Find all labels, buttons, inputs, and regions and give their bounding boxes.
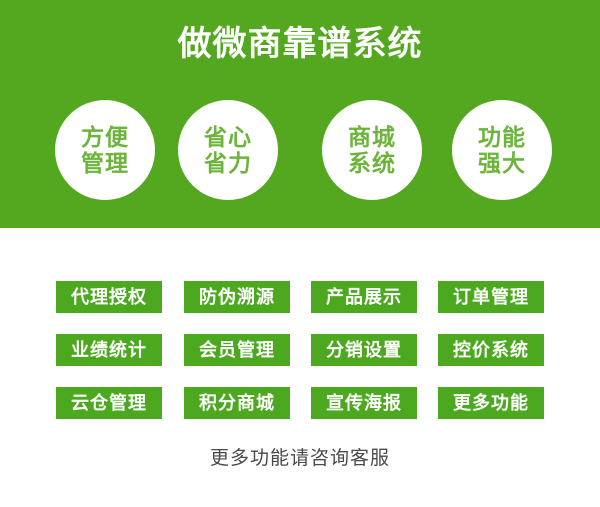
feature-tag[interactable]: 产品展示 [311,281,417,313]
highlight-circle-1-line2: 管理 [81,150,129,176]
feature-tag[interactable]: 会员管理 [184,334,290,366]
feature-tag-grid: 代理授权 防伪溯源 产品展示 订单管理 业绩统计 会员管理 分销设置 控价系统 … [0,228,600,507]
highlight-circle-1-line1: 方便 [81,124,129,150]
hero-section: 做微商靠谱系统 方便 管理 省心 省力 商城 系统 功能 强大 [0,0,600,228]
highlight-circle-3-line2: 系统 [348,150,396,176]
highlight-circle-3-line1: 商城 [348,124,396,150]
feature-tag[interactable]: 订单管理 [438,281,544,313]
feature-tag[interactable]: 更多功能 [438,387,544,419]
highlight-circle-2-line2: 省力 [204,150,252,176]
highlight-circle-1: 方便 管理 [55,100,155,200]
page-title: 做微商靠谱系统 [0,22,600,66]
feature-tag[interactable]: 分销设置 [311,334,417,366]
feature-tag[interactable]: 防伪溯源 [184,281,290,313]
highlight-circle-3: 商城 系统 [322,100,422,200]
highlight-circle-4-line2: 强大 [478,150,526,176]
feature-tag[interactable]: 业绩统计 [56,334,162,366]
highlight-circle-row: 方便 管理 省心 省力 商城 系统 功能 强大 [0,100,600,200]
feature-tag[interactable]: 积分商城 [184,387,290,419]
promo-banner: 做微商靠谱系统 方便 管理 省心 省力 商城 系统 功能 强大 代理授权 防伪溯 [0,0,600,507]
highlight-circle-4: 功能 强大 [452,100,552,200]
feature-tag[interactable]: 代理授权 [56,281,162,313]
highlight-circle-2: 省心 省力 [178,100,278,200]
highlight-circle-4-line1: 功能 [478,124,526,150]
footnote-text: 更多功能请咨询客服 [0,446,600,472]
highlight-circle-2-line1: 省心 [204,124,252,150]
feature-tag[interactable]: 宣传海报 [311,387,417,419]
feature-tag[interactable]: 控价系统 [438,334,544,366]
feature-tag[interactable]: 云仓管理 [56,387,162,419]
